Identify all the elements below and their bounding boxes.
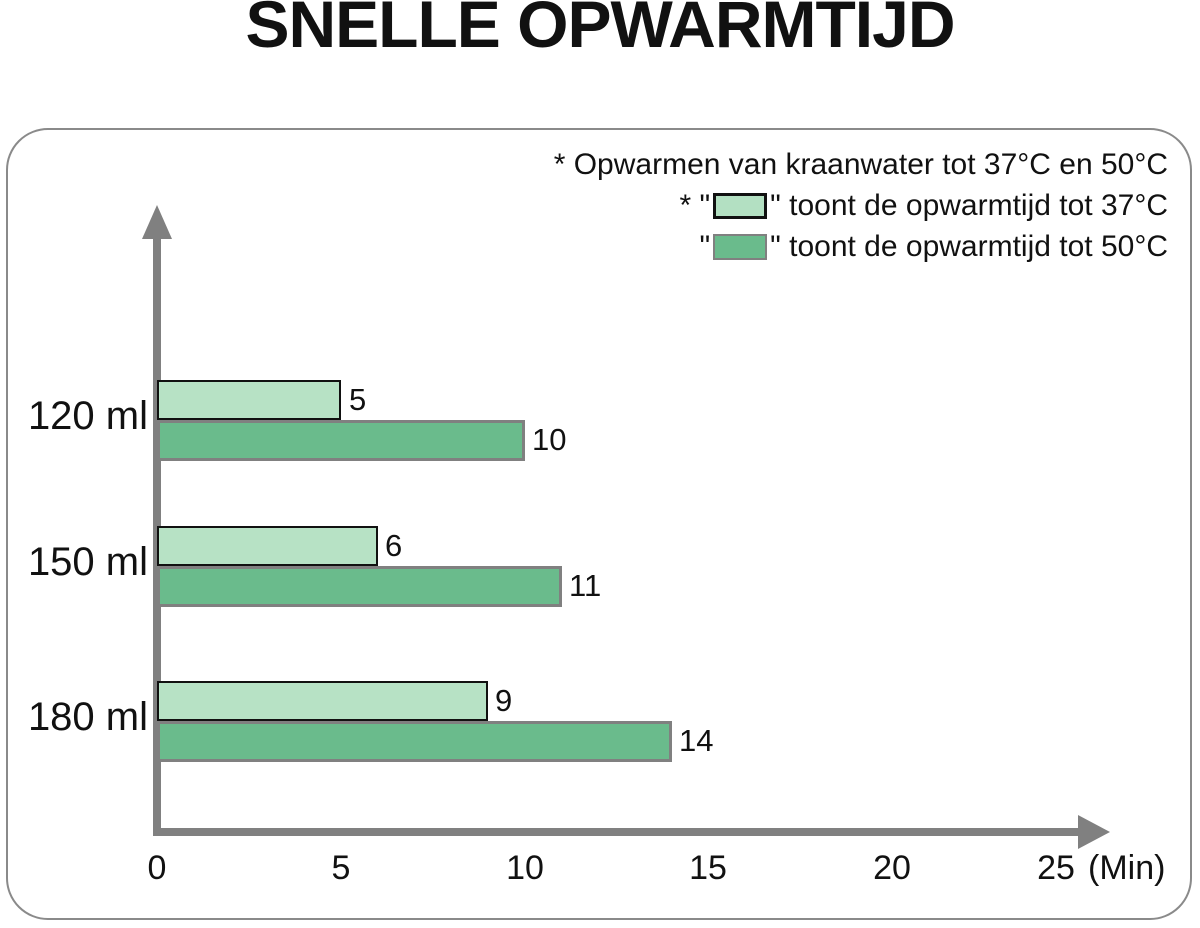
bar-value-120ml-50c: 10 [532,422,566,458]
bar-120ml-50c[interactable] [157,420,525,461]
x-axis-unit-label: (Min) [1088,848,1165,888]
chart-card: * Opwarmen van kraanwater tot 37°C en 50… [6,128,1192,920]
y-axis-arrow-icon [142,205,172,239]
bar-150ml-37c[interactable] [157,526,378,566]
x-tick-5: 5 [301,848,381,888]
x-tick-20: 20 [852,848,932,888]
bar-value-150ml-50c: 11 [569,568,601,604]
category-label-180ml: 180 ml [28,695,148,739]
bar-value-180ml-50c: 14 [679,723,713,759]
category-label-150ml: 150 ml [28,540,148,584]
x-axis-arrow-icon [1078,815,1110,849]
x-tick-15: 15 [668,848,748,888]
x-tick-0: 0 [117,848,197,888]
x-tick-10: 10 [485,848,565,888]
bar-120ml-37c[interactable] [157,380,341,420]
plot-area: 120 ml 150 ml 180 ml 5 10 6 11 9 14 0 5 … [8,130,1194,922]
bar-value-120ml-37c: 5 [349,382,366,418]
category-label-120ml: 120 ml [28,394,148,438]
bar-value-150ml-37c: 6 [385,528,402,564]
x-axis-line [153,828,1083,836]
x-tick-25: 25 [1016,848,1096,888]
bar-180ml-50c[interactable] [157,721,672,762]
bar-150ml-50c[interactable] [157,566,562,607]
bar-value-180ml-37c: 9 [495,683,512,719]
page-title: SNELLE OPWARMTIJD [0,0,1200,62]
bar-180ml-37c[interactable] [157,681,488,721]
